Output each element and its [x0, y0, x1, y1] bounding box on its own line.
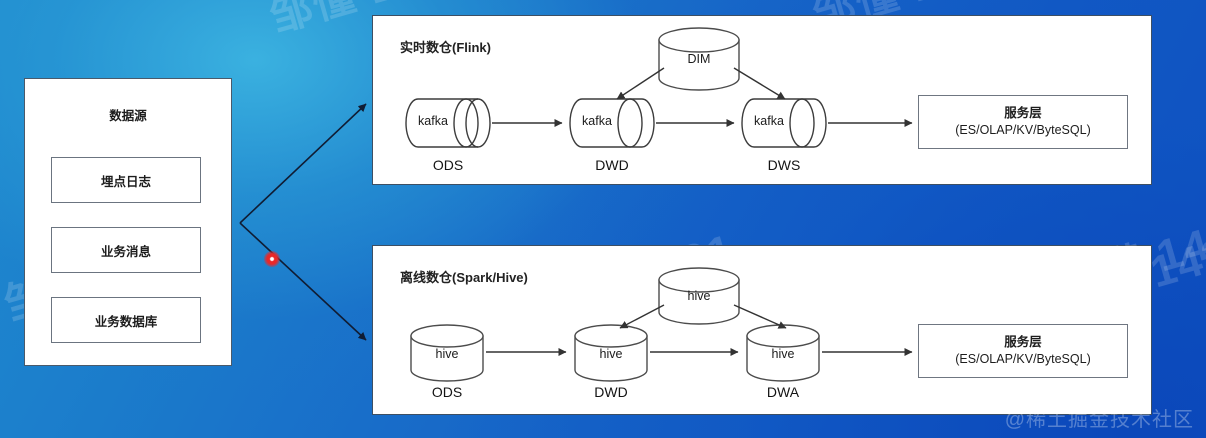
data-source-item-log[interactable]: 埋点日志 [51, 157, 201, 203]
layer-label-off-dwd: DWD [567, 384, 655, 400]
realtime-service-layer-title: 服务层 [1004, 105, 1042, 122]
realtime-pipeline-title: 实时数仓(Flink) [400, 37, 491, 56]
realtime-service-layer-subtitle: (ES/OLAP/KV/ByteSQL) [955, 122, 1090, 139]
node-hive-dwd-cylinder[interactable]: hive [572, 325, 650, 381]
edge-source-to-offline [240, 223, 366, 340]
cursor-marker [264, 251, 280, 267]
realtime-service-layer-box[interactable]: 服务层 (ES/OLAP/KV/ByteSQL) [918, 95, 1128, 149]
node-dim-cylinder[interactable]: DIM [656, 28, 742, 90]
node-hive-ods-cylinder[interactable]: hive [408, 325, 486, 381]
data-source-item-message[interactable]: 业务消息 [51, 227, 201, 273]
node-kafka-dwd-cylinder[interactable]: kafka [568, 97, 656, 149]
data-source-item-database[interactable]: 业务数据库 [51, 297, 201, 343]
offline-pipeline-title: 离线数仓(Spark/Hive) [400, 267, 528, 286]
edge-source-to-realtime [240, 104, 366, 223]
data-source-box: 数据源 埋点日志 业务消息 业务数据库 [24, 78, 232, 366]
offline-service-layer-title: 服务层 [1004, 334, 1042, 351]
layer-label-off-ods: ODS [403, 384, 491, 400]
data-source-title: 数据源 [25, 105, 231, 124]
diagram-canvas: 邹懂 1431 邹懂 1431 邹懂 1431 邹懂 1431 邹懂 1431 … [0, 0, 1206, 438]
node-kafka-dws-cylinder[interactable]: kafka [740, 97, 828, 149]
node-hive-dwa-cylinder[interactable]: hive [744, 325, 822, 381]
offline-service-layer-box[interactable]: 服务层 (ES/OLAP/KV/ByteSQL) [918, 324, 1128, 378]
layer-label-rt-dwd: DWD [568, 157, 656, 173]
node-hive-dim-cylinder[interactable]: hive [656, 268, 742, 326]
node-kafka-ods-cylinder[interactable]: kafka [404, 97, 492, 149]
layer-label-rt-dws: DWS [740, 157, 828, 173]
layer-label-rt-ods: ODS [404, 157, 492, 173]
layer-label-off-dwa: DWA [739, 384, 827, 400]
offline-service-layer-subtitle: (ES/OLAP/KV/ByteSQL) [955, 351, 1090, 368]
